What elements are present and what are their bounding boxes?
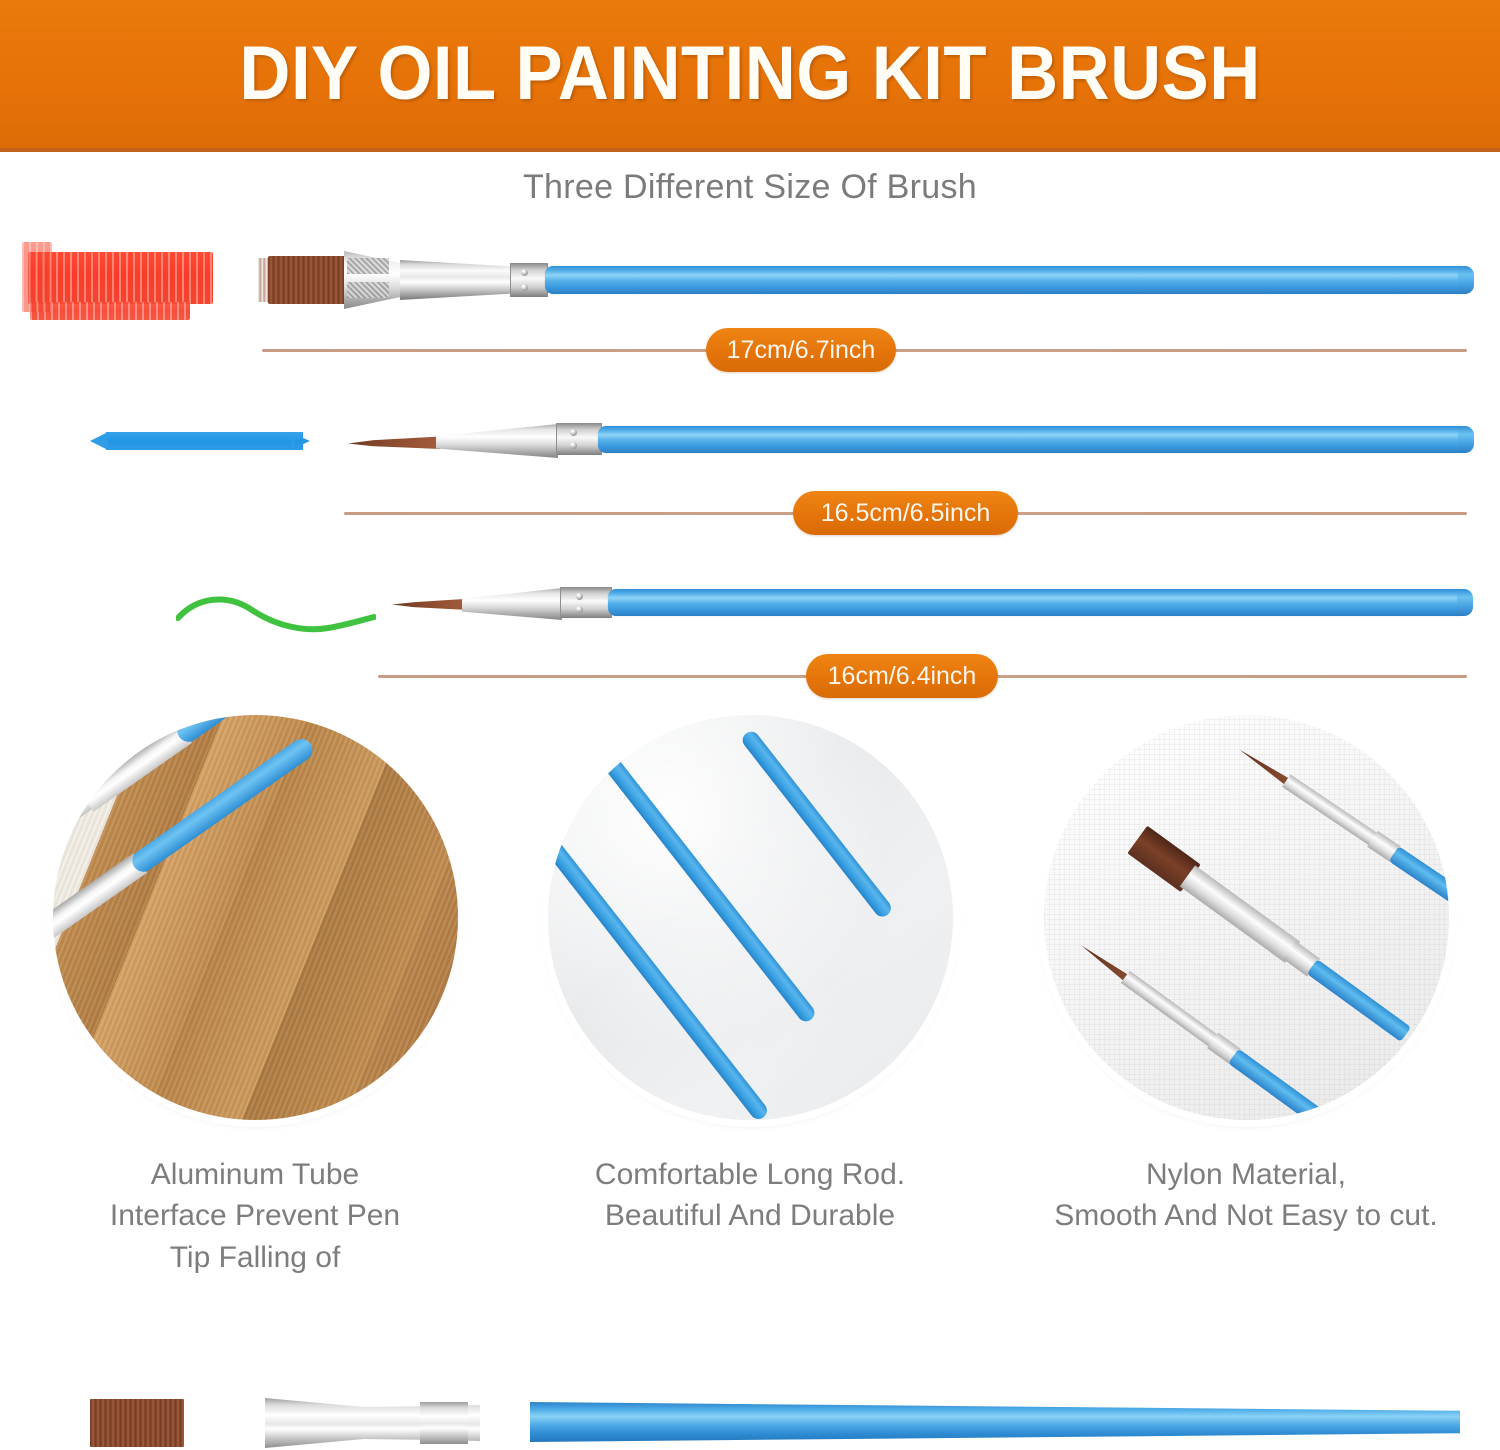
- ferrule-taper-round: [436, 424, 558, 458]
- red-paint-swatch-tail: [30, 302, 190, 320]
- ferrule-grip-texture-2: [347, 282, 389, 298]
- brush-row-flat: 17cm/6.7inch: [0, 230, 1500, 390]
- feature-long-rod: Comfortable Long Rod. Beautiful And Dura…: [520, 715, 980, 1237]
- header-banner: DIY OIL PAINTING KIT BRUSH: [0, 0, 1500, 152]
- caption-line: Nylon Material,: [1016, 1154, 1476, 1195]
- size-pill-flat: 17cm/6.7inch: [706, 328, 896, 372]
- ferrule-grip-texture: [347, 258, 389, 274]
- brush-row-round: 16.5cm/6.5inch: [0, 390, 1500, 550]
- size-pill-round: 16.5cm/6.5inch: [793, 491, 1018, 535]
- blue-paint-swatch: [106, 432, 303, 450]
- feature-caption-long-rod: Comfortable Long Rod. Beautiful And Dura…: [520, 1154, 980, 1237]
- exploded-parts-strip: [0, 1385, 1500, 1450]
- crimp-dot-liner: [576, 593, 583, 600]
- ferrule-crimp-dot-bottom: [521, 284, 528, 291]
- feature-caption-nylon: Nylon Material, Smooth And Not Easy to c…: [1016, 1154, 1476, 1237]
- brush-handle-blue-liner: [608, 589, 1466, 616]
- feature-photo-canvas: [1044, 715, 1449, 1120]
- crimp-dot-round-2: [570, 442, 577, 449]
- page-title: DIY OIL PAINTING KIT BRUSH: [239, 36, 1260, 112]
- brush-handle-blue: [545, 266, 1467, 294]
- liner-bristle-tip: [392, 598, 468, 610]
- exploded-ferrule-crimp: [420, 1402, 468, 1444]
- caption-line: Interface Prevent Pen: [25, 1195, 485, 1236]
- red-paint-swatch-wisps: [22, 242, 52, 312]
- feature-aluminum-tube: Aluminum Tube Interface Prevent Pen Tip …: [25, 715, 485, 1278]
- caption-line: Comfortable Long Rod.: [520, 1154, 980, 1195]
- ferrule-taper-liner: [462, 588, 562, 620]
- crimp-dot-liner-2: [576, 606, 583, 613]
- brush-size-comparison: 17cm/6.7inch 16.5cm/6.5inch: [0, 230, 1500, 700]
- caption-line: Smooth And Not Easy to cut.: [1016, 1195, 1476, 1236]
- ferrule-crimp-dot-top: [521, 269, 528, 276]
- brush-handle-blue-round: [598, 426, 1467, 453]
- exploded-bristle-head: [90, 1399, 184, 1447]
- caption-line: Beautiful And Durable: [520, 1195, 980, 1236]
- exploded-handle-rod: [530, 1402, 1460, 1442]
- caption-line: Tip Falling of: [25, 1237, 485, 1278]
- green-wavy-stroke: [176, 586, 376, 638]
- ferrule-crimp-ring-round: [556, 423, 602, 455]
- size-pill-liner: 16cm/6.4inch: [806, 654, 998, 698]
- ferrule-flat: [400, 260, 512, 300]
- feature-gallery: Aluminum Tube Interface Prevent Pen Tip …: [0, 715, 1500, 1355]
- brush-row-liner: 16cm/6.4inch: [0, 550, 1500, 710]
- crimp-dot-round: [570, 429, 577, 436]
- ferrule-crimp-ring: [510, 263, 548, 297]
- round-bristle-tip: [348, 436, 440, 449]
- feature-caption-aluminum: Aluminum Tube Interface Prevent Pen Tip …: [25, 1154, 485, 1278]
- caption-line: Aluminum Tube: [25, 1154, 485, 1195]
- flat-bristle-head: [268, 256, 346, 304]
- feature-photo-marble: [548, 715, 953, 1120]
- feature-nylon-material: Nylon Material, Smooth And Not Easy to c…: [1016, 715, 1476, 1237]
- red-paint-swatch: [28, 252, 213, 304]
- subtitle: Three Different Size Of Brush: [0, 168, 1500, 207]
- feature-photo-bamboo: [53, 715, 458, 1120]
- ferrule-crimp-ring-liner: [560, 587, 612, 618]
